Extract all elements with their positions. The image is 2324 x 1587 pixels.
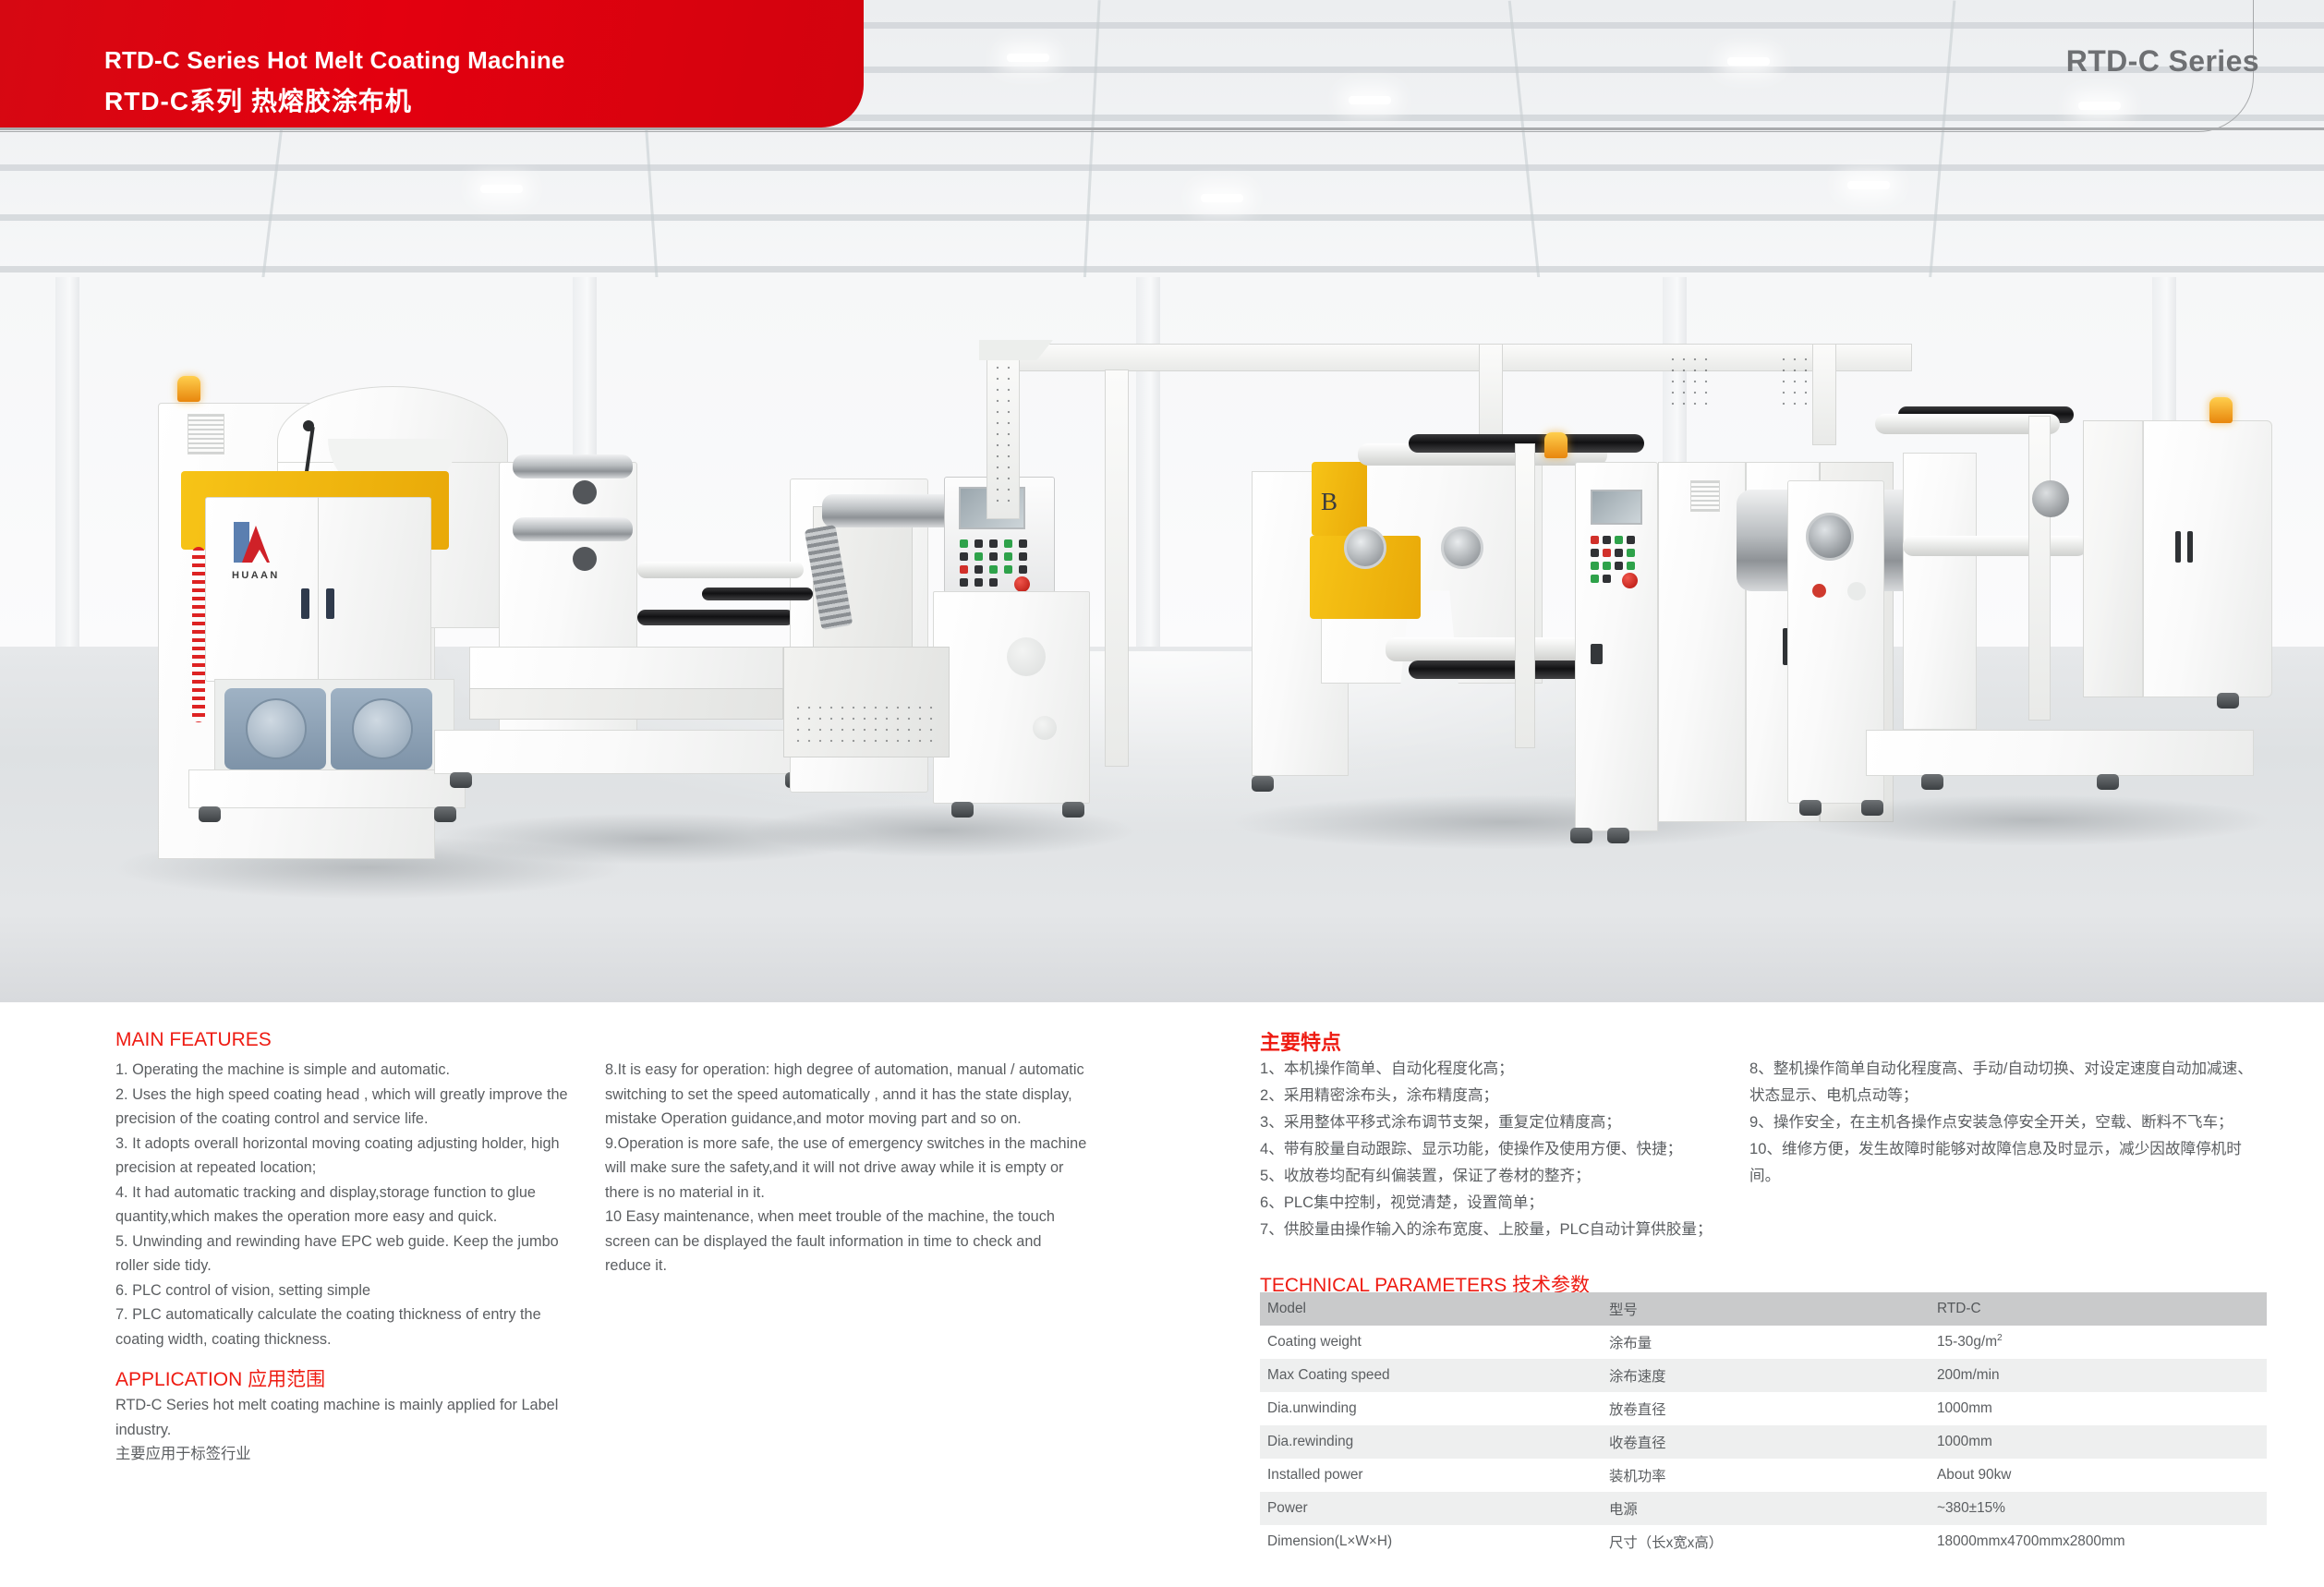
feature-item-cn: 2、采用精密涂布头，涂布精度高； bbox=[1260, 1082, 1749, 1108]
table-row: Dia.rewinding收卷直径1000mm bbox=[1260, 1425, 2267, 1459]
product-photo: HUAAN bbox=[0, 0, 2324, 1002]
feature-item-cn: 9、操作安全，在主机各操作点安装急停安全开关，空载、断料不飞车； bbox=[1749, 1108, 2267, 1135]
table-cell-value: 200m/min bbox=[1930, 1359, 2267, 1392]
logo-arrow-notch bbox=[252, 550, 267, 563]
main-features-col1: 1. Operating the machine is simple and a… bbox=[115, 1058, 577, 1351]
feature-item: 6. PLC control of vision, setting simple bbox=[115, 1278, 577, 1303]
table-cell-label-en: Max Coating speed bbox=[1260, 1359, 1602, 1392]
table-cell-label-en: Dimension(L×W×H) bbox=[1260, 1525, 1602, 1558]
table-cell-value: About 90kw bbox=[1930, 1459, 2267, 1492]
table-cell-label-cn: 装机功率 bbox=[1602, 1459, 1930, 1492]
feature-item-cn: 1、本机操作简单、自动化程度化高； bbox=[1260, 1055, 1749, 1082]
main-features-cn-col2: 8、整机操作简单自动化程度高、手动/自动切换、对设定速度自动加减速、状态显示、电… bbox=[1749, 1055, 2267, 1189]
feature-item-cn: 3、采用整体平移式涂布调节支架，重复定位精度高； bbox=[1260, 1108, 1749, 1135]
feature-item-cn: 6、PLC集中控制，视觉清楚，设置简单； bbox=[1260, 1189, 1749, 1216]
table-cell-value: 15-30g/m2 bbox=[1930, 1326, 2267, 1359]
table-cell-label-cn: 尺寸（长x宽x高） bbox=[1602, 1525, 1930, 1558]
table-cell-label-cn: 放卷直径 bbox=[1602, 1392, 1930, 1425]
feature-item: 5. Unwinding and rewinding have EPC web … bbox=[115, 1230, 577, 1278]
beacon-light-right bbox=[2209, 397, 2233, 423]
table-cell-value: 1000mm bbox=[1930, 1425, 2267, 1459]
application-heading: APPLICATION 应用范围 bbox=[115, 1364, 325, 1392]
table-row: Max Coating speed涂布速度200m/min bbox=[1260, 1359, 2267, 1392]
feature-item: 4. It had automatic tracking and display… bbox=[115, 1181, 577, 1230]
application-text: RTD-C Series hot melt coating machine is… bbox=[115, 1393, 577, 1467]
machine-letter-b: B bbox=[1321, 488, 1339, 514]
banner-title-en: RTD-C Series Hot Melt Coating Machine bbox=[104, 46, 565, 75]
feature-item: 3. It adopts overall horizontal moving c… bbox=[115, 1132, 577, 1181]
feature-item-cn: 5、收放卷均配有纠偏装置，保证了卷材的整齐； bbox=[1260, 1162, 1749, 1189]
series-label: RTD-C Series bbox=[2066, 44, 2259, 79]
table-row: Installed power装机功率About 90kw bbox=[1260, 1459, 2267, 1492]
table-cell-label-cn: 涂布量 bbox=[1602, 1326, 1930, 1359]
feature-item-cn: 4、带有胶量自动跟踪、显示功能，使操作及使用方便、快捷； bbox=[1260, 1135, 1749, 1162]
table-row: Power电源~380±15% bbox=[1260, 1492, 2267, 1525]
table-cell-label-cn: 电源 bbox=[1602, 1492, 1930, 1525]
table-cell-label-en: Model bbox=[1260, 1292, 1602, 1326]
table-cell-value: 1000mm bbox=[1930, 1392, 2267, 1425]
application-text-en: RTD-C Series hot melt coating machine is… bbox=[115, 1393, 577, 1442]
beacon-light-left bbox=[177, 376, 200, 402]
web-roller bbox=[702, 588, 813, 600]
feature-item: 9.Operation is more safe, the use of eme… bbox=[605, 1132, 1090, 1205]
table-cell-value: ~380±15% bbox=[1930, 1492, 2267, 1525]
feature-item-cn: 7、供胶量由操作输入的涂布宽度、上胶量，PLC自动计算供胶量； bbox=[1260, 1216, 1749, 1242]
main-features-cn-heading: 主要特点 bbox=[1260, 1026, 1341, 1056]
huaan-logo bbox=[234, 522, 282, 566]
huaan-logo-text: HUAAN bbox=[232, 570, 280, 581]
table-cell-label-cn: 涂布速度 bbox=[1602, 1359, 1930, 1392]
feature-item: 8.It is easy for operation: high degree … bbox=[605, 1058, 1090, 1132]
table-row: Model型号RTD-C bbox=[1260, 1292, 2267, 1326]
table-cell-value: 18000mmx4700mmx2800mm bbox=[1930, 1525, 2267, 1558]
table-row: Coating weight涂布量15-30g/m2 bbox=[1260, 1326, 2267, 1359]
application-text-cn: 主要应用于标签行业 bbox=[115, 1442, 577, 1467]
header-banner: RTD-C Series Hot Melt Coating Machine RT… bbox=[0, 0, 864, 127]
table-cell-label-cn: 型号 bbox=[1602, 1292, 1930, 1326]
table-cell-label-en: Dia.unwinding bbox=[1260, 1392, 1602, 1425]
brochure-page: HUAAN bbox=[0, 0, 2324, 1587]
web-roller bbox=[637, 562, 804, 578]
feature-item: 10 Easy maintenance, when meet trouble o… bbox=[605, 1205, 1090, 1278]
beacon-light-center bbox=[1544, 432, 1567, 458]
feature-item: 2. Uses the high speed coating head , wh… bbox=[115, 1083, 577, 1132]
table-cell-label-en: Power bbox=[1260, 1492, 1602, 1525]
technical-parameters-table: Model型号RTD-CCoating weight涂布量15-30g/m2Ma… bbox=[1260, 1292, 2267, 1558]
emergency-stop-button[interactable] bbox=[1014, 576, 1030, 592]
feature-item: 1. Operating the machine is simple and a… bbox=[115, 1058, 577, 1083]
table-cell-label-en: Installed power bbox=[1260, 1459, 1602, 1492]
feature-item: 7. PLC automatically calculate the coati… bbox=[115, 1302, 577, 1351]
table-cell-value: RTD-C bbox=[1930, 1292, 2267, 1326]
main-features-cn-col1: 1、本机操作简单、自动化程度化高； 2、采用精密涂布头，涂布精度高； 3、采用整… bbox=[1260, 1055, 1749, 1242]
feature-item-cn: 8、整机操作简单自动化程度高、手动/自动切换、对设定速度自动加减速、状态显示、电… bbox=[1749, 1055, 2267, 1108]
main-features-heading: MAIN FEATURES bbox=[115, 1029, 272, 1051]
table-cell-label-en: Coating weight bbox=[1260, 1326, 1602, 1359]
banner-title-cn: RTD-C系列 热熔胶涂布机 bbox=[104, 81, 412, 118]
table-cell-label-en: Dia.rewinding bbox=[1260, 1425, 1602, 1459]
main-features-col2: 8.It is easy for operation: high degree … bbox=[605, 1058, 1090, 1278]
table-cell-label-cn: 收卷直径 bbox=[1602, 1425, 1930, 1459]
feature-item-cn: 10、维修方便，发生故障时能够对故障信息及时显示，减少因故障停机时间。 bbox=[1749, 1135, 2267, 1189]
table-row: Dimension(L×W×H)尺寸（长x宽x高）18000mmx4700mmx… bbox=[1260, 1525, 2267, 1558]
header-divider bbox=[0, 127, 2324, 130]
table-row: Dia.unwinding放卷直径1000mm bbox=[1260, 1392, 2267, 1425]
